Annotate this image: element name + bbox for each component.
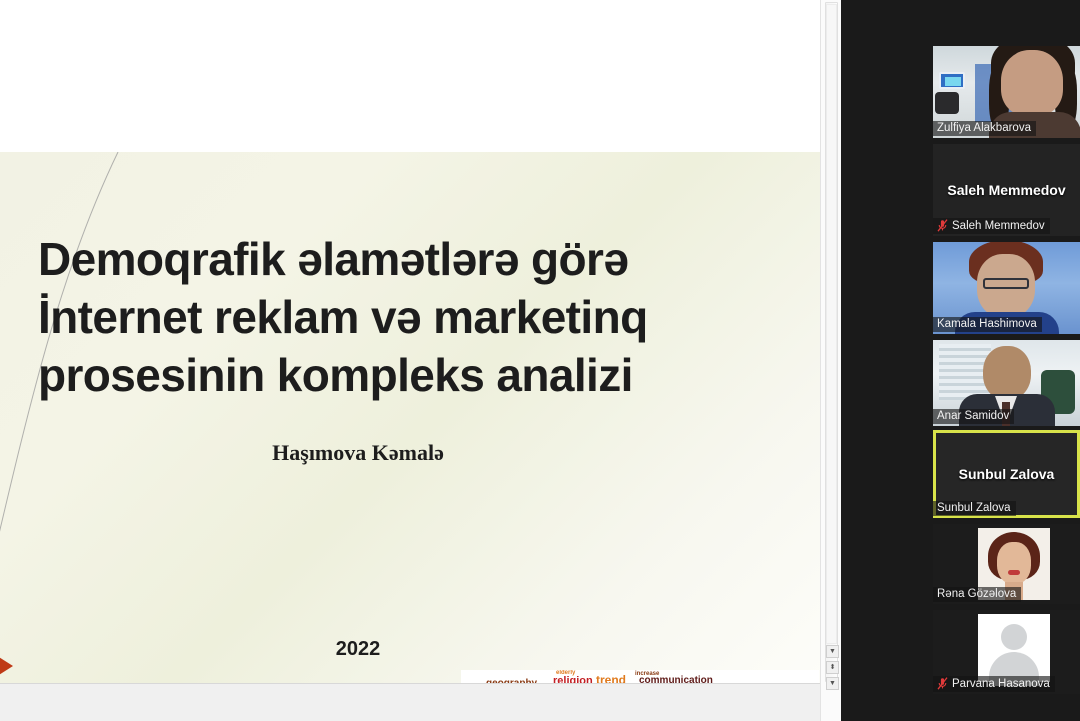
- wordcloud-word: religion: [553, 676, 593, 683]
- select-browse-object-icon[interactable]: ⬍: [826, 661, 839, 674]
- participant-tile-anar-samidov[interactable]: Anar Samidov: [933, 340, 1080, 426]
- wordcloud-word: increase: [635, 671, 659, 677]
- participant-name-label: Sunbul Zalova: [933, 501, 1016, 516]
- screen-share-meeting-window: Demoqrafik əlamətlərə görə İnternet rekl…: [0, 0, 1080, 721]
- slide-title-line-2: İnternet reklam və marketinq: [38, 288, 758, 346]
- wordcloud-word: elderly: [556, 670, 575, 676]
- wordcloud-word: communication: [639, 676, 713, 683]
- microphone-muted-icon: [937, 219, 948, 232]
- participant-name-text: Zulfiya Alakbarova: [937, 122, 1031, 134]
- wordcloud-canvas: demographydemographicpopulationgraphbusi…: [461, 670, 819, 683]
- participant-tile-sunbul-zalova[interactable]: Sunbul Zalova Sunbul Zalova: [933, 430, 1080, 518]
- participant-name-label: Saleh Memmedov: [933, 218, 1050, 234]
- shared-document-blank-area: [0, 0, 820, 152]
- participant-filmstrip[interactable]: Zulfiya Alakbarova Saleh Memmedov Saleh …: [841, 0, 1080, 721]
- participant-tile-parvana-hasanova[interactable]: Parvana Hasanova: [933, 610, 1080, 694]
- participant-tile-rena-gozelova[interactable]: Rəna Gözəlova: [933, 524, 1080, 604]
- participant-name-text: Sunbul Zalova: [937, 502, 1011, 514]
- participant-name-text: Kamala Hashimova: [937, 318, 1037, 330]
- document-scrollbar-thumb[interactable]: [826, 4, 837, 644]
- slide-title-line-1: Demoqrafik əlamətlərə görə: [38, 230, 758, 288]
- wordcloud-image: demographydemographicpopulationgraphbusi…: [461, 670, 819, 683]
- participant-name-label: Parvana Hasanova: [933, 676, 1055, 692]
- participant-tile-saleh-memmedov[interactable]: Saleh Memmedov Saleh Memmedov: [933, 144, 1080, 236]
- participant-name-label: Zulfiya Alakbarova: [933, 121, 1036, 136]
- slide-title: Demoqrafik əlamətlərə görə İnternet rekl…: [38, 230, 758, 404]
- presentation-slide: Demoqrafik əlamətlərə görə İnternet rekl…: [0, 152, 820, 683]
- scroll-previous-page-icon[interactable]: ▼: [826, 645, 839, 658]
- slide-decorative-arrow: [0, 652, 13, 680]
- participant-name-text: Saleh Memmedov: [952, 220, 1045, 232]
- participant-tile-zulfiya-alakbarova[interactable]: Zulfiya Alakbarova: [933, 46, 1080, 138]
- scroll-next-page-icon[interactable]: ▼: [826, 677, 839, 690]
- slide-year: 2022: [38, 638, 678, 661]
- participant-name-label: Anar Samidov: [933, 409, 1014, 424]
- participant-name-label: Kamala Hashimova: [933, 317, 1042, 332]
- shared-screen-area: Demoqrafik əlamətlərə görə İnternet rekl…: [0, 0, 841, 721]
- slide-title-line-3: prosesinin kompleks analizi: [38, 346, 758, 404]
- wordcloud-word: trend: [596, 674, 626, 683]
- participant-name-label: Rəna Gözəlova: [933, 587, 1021, 602]
- monitor-icon: [939, 72, 965, 89]
- slide-author: Haşımova Kəmalə: [38, 440, 678, 466]
- participant-name-text: Parvana Hasanova: [952, 678, 1050, 690]
- avatar-default-silhouette: [978, 614, 1050, 682]
- participant-name-text: Rəna Gözəlova: [937, 588, 1016, 600]
- participant-tile-kamala-hashimova[interactable]: Kamala Hashimova: [933, 242, 1080, 334]
- shared-document-bottom-strip: [0, 683, 820, 721]
- microphone-muted-icon: [937, 677, 948, 690]
- participant-name-text: Anar Samidov: [937, 410, 1009, 422]
